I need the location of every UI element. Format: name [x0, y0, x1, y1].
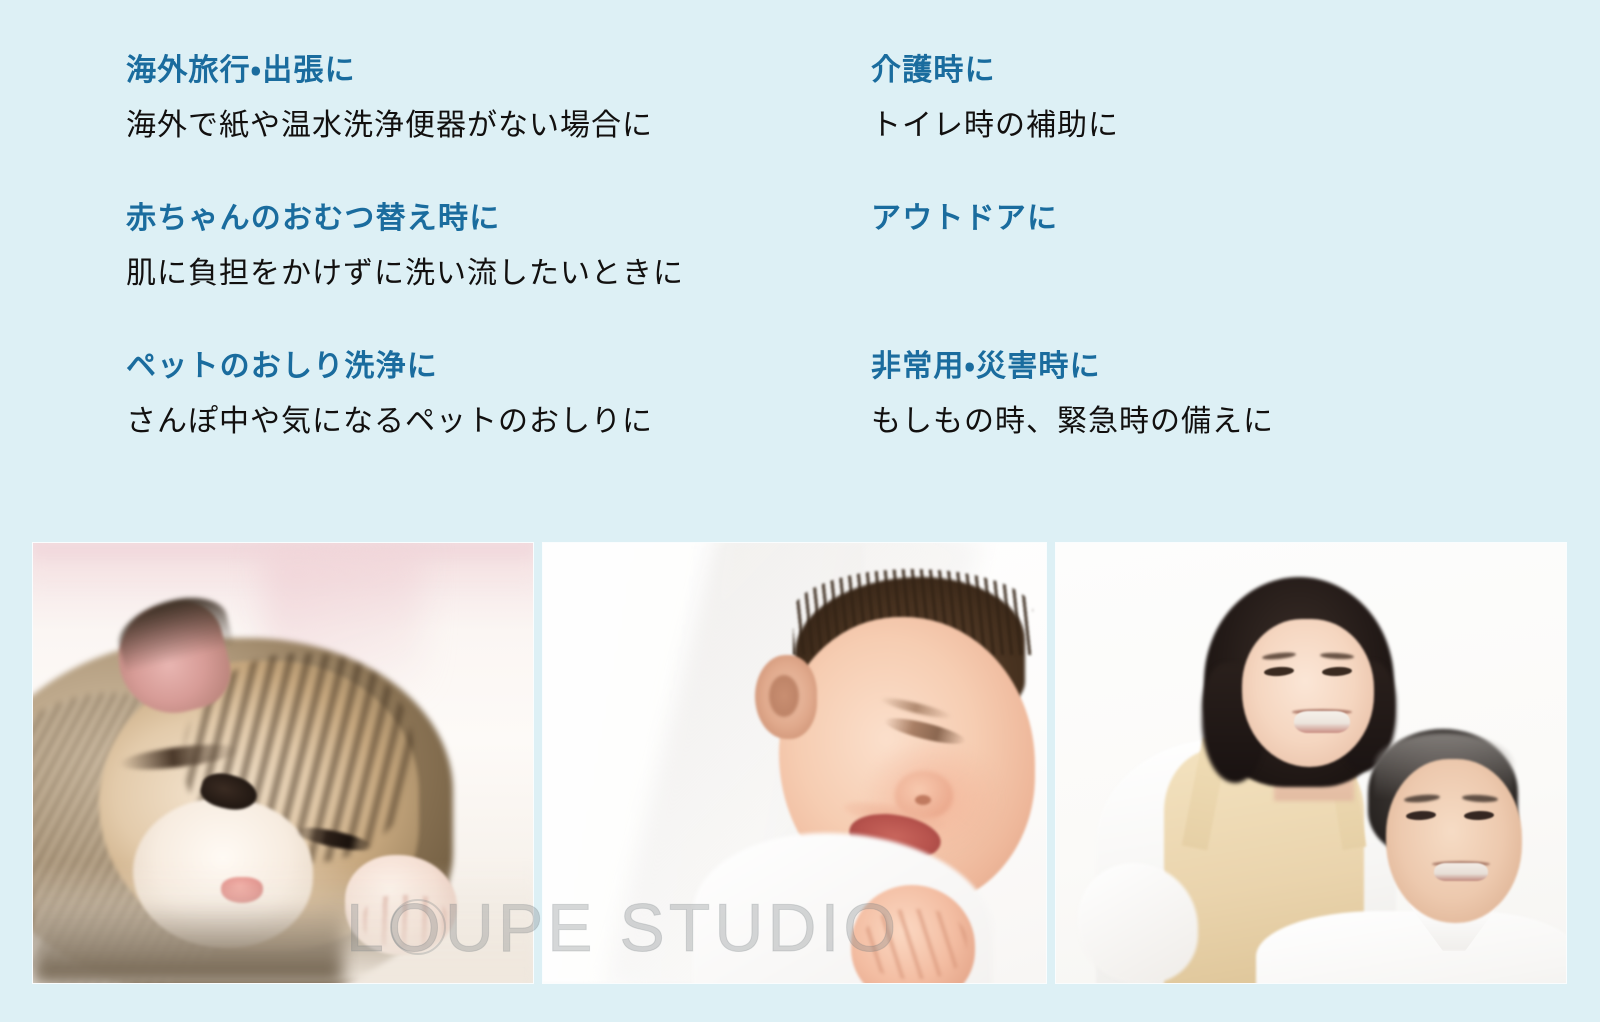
use-case-title: 海外旅行・出張に — [126, 52, 871, 90]
photo-sleeping-kitten — [33, 543, 533, 983]
use-case-item-overseas-travel: 海外旅行・出張に 海外で紙や温水洗浄便器がない場合に — [126, 52, 871, 200]
elderly-man-shirt — [1256, 911, 1566, 983]
baby-fingers — [863, 909, 967, 979]
use-case-title: ペットのおしり洗浄に — [126, 348, 871, 386]
use-case-item-outdoor: アウトドアに — [871, 200, 1600, 348]
use-case-section: 海外旅行・出張に 海外で紙や温水洗浄便器がない場合に 介護時に トイレ時の補助に… — [0, 0, 1600, 1022]
use-case-item-emergency-disaster: 非常用・災害時に もしもの時、緊急時の備えに — [871, 348, 1600, 496]
baby-ear-inner — [769, 675, 799, 717]
use-case-description: 肌に負担をかけずに洗い流したいときに — [126, 254, 871, 293]
use-case-title: 介護時に — [871, 52, 1600, 90]
photo-sleeping-baby — [543, 543, 1046, 983]
use-case-description: 海外で紙や温水洗浄便器がない場合に — [126, 106, 871, 145]
photo-caregiver-and-elderly-man — [1056, 543, 1566, 983]
use-case-title: アウトドアに — [871, 200, 1600, 238]
use-case-description: もしもの時、緊急時の備えに — [871, 402, 1600, 441]
use-case-item-baby-diaper-change: 赤ちゃんのおむつ替え時に 肌に負担をかけずに洗い流したいときに — [126, 200, 871, 348]
use-case-description: さんぽ中や気になるペットのおしりに — [126, 402, 871, 441]
use-case-title: 非常用・災害時に — [871, 348, 1600, 386]
kitten-body-shadow — [33, 903, 343, 983]
use-case-item-nursing-care: 介護時に トイレ時の補助に — [871, 52, 1600, 200]
use-case-description: トイレ時の補助に — [871, 106, 1600, 145]
elderly-man-face — [1386, 759, 1522, 923]
elderly-man-mouth-smile — [1434, 863, 1488, 881]
use-case-title: 赤ちゃんのおむつ替え時に — [126, 200, 871, 238]
use-case-item-pet-washing: ペットのおしり洗浄に さんぽ中や気になるペットのおしりに — [126, 348, 871, 496]
baby-nostril — [915, 795, 931, 805]
photo-gallery — [33, 543, 1566, 983]
caregiver-face — [1242, 619, 1374, 767]
use-case-grid: 海外旅行・出張に 海外で紙や温水洗浄便器がない場合に 介護時に トイレ時の補助に… — [0, 0, 1600, 520]
caregiver-mouth-smile — [1294, 711, 1350, 733]
